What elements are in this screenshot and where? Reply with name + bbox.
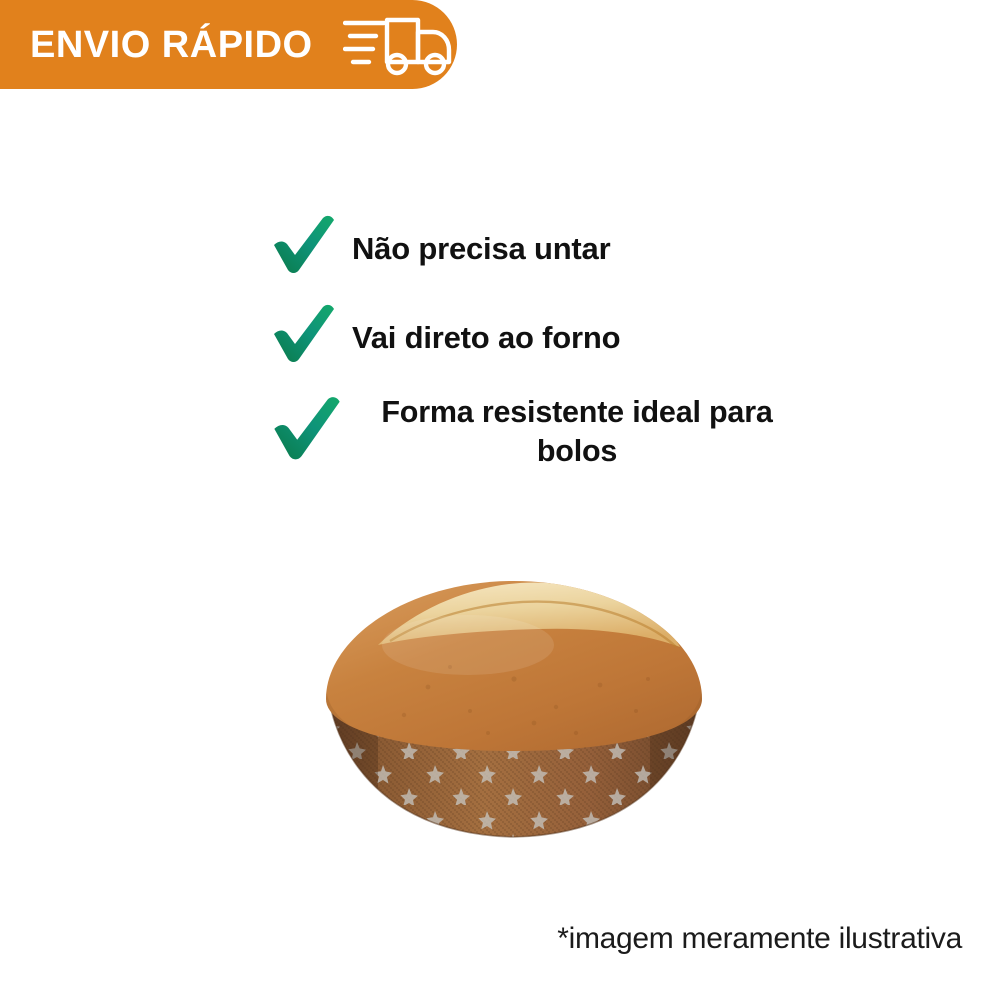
- feature-item-label: Vai direto ao forno: [352, 318, 620, 358]
- feature-item-3: Forma resistente ideal para bolos: [270, 393, 830, 471]
- feature-item-2: Vai direto ao forno: [270, 304, 830, 371]
- delivery-truck-icon: [313, 14, 455, 76]
- product-marketing-banner: ENVIO RÁPIDO: [0, 0, 1000, 1000]
- product-image: [318, 575, 710, 847]
- shipping-badge: ENVIO RÁPIDO: [0, 0, 457, 89]
- feature-item-label: Não precisa untar: [352, 229, 610, 269]
- check-mark-icon: [270, 396, 344, 469]
- check-mark-icon: [270, 304, 338, 371]
- feature-item-label: Forma resistente ideal para bolos: [352, 393, 802, 471]
- illustrative-image-disclaimer: *imagem meramente ilustrativa: [557, 922, 962, 956]
- check-mark-icon: [270, 215, 338, 282]
- baked-cake: [326, 581, 702, 751]
- feature-list: Não precisa untar Vai direto ao forno: [270, 215, 830, 471]
- feature-item-1: Não precisa untar: [270, 215, 830, 282]
- shipping-badge-label: ENVIO RÁPIDO: [30, 26, 313, 64]
